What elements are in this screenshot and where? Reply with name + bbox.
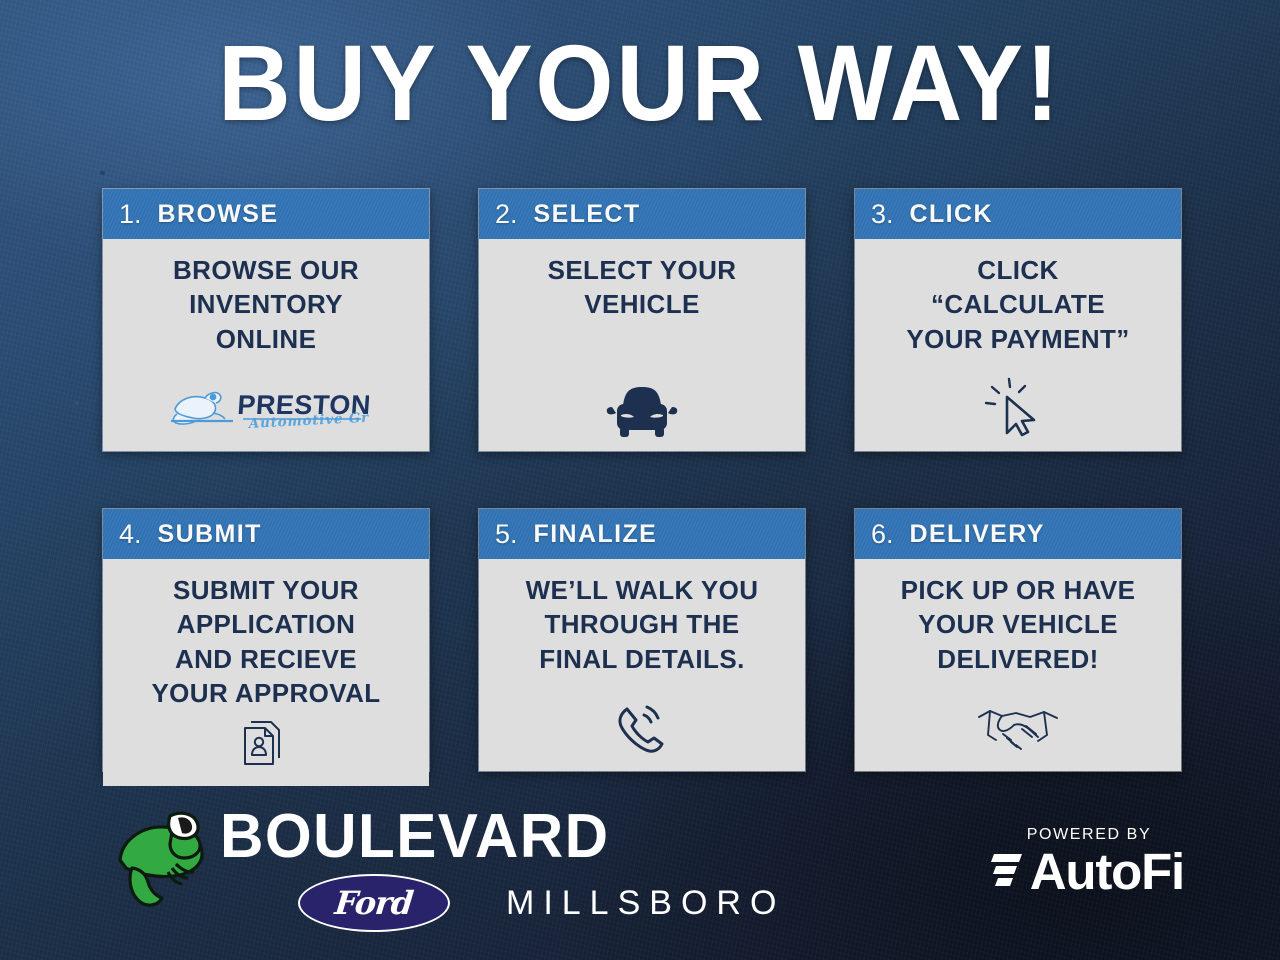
boulevard-ford-logo[interactable]: BOULEVARD Ford MILLSBORO (112, 806, 785, 932)
step-body: BROWSE OUR INVENTORY ONLINE PRESTON (103, 239, 429, 451)
step-body: SUBMIT YOUR APPLICATION AND RECIEVE YOUR… (103, 559, 429, 786)
step-number: 6. (871, 519, 894, 550)
autofi-logo[interactable]: POWERED BY AutoFi (991, 826, 1184, 897)
preston-automotive-group-logo: PRESTON Automotive Group (163, 375, 369, 441)
step-body: PICK UP OR HAVE YOUR VEHICLE DELIVERED! (855, 559, 1181, 771)
car-front-icon (601, 375, 683, 441)
step-body: SELECT YOUR VEHICLE (479, 239, 805, 451)
step-header: 6. DELIVERY (855, 509, 1181, 559)
autofi-bars-icon (991, 847, 1025, 896)
step-description: PICK UP OR HAVE YOUR VEHICLE DELIVERED! (901, 573, 1136, 676)
step-header: 1. BROWSE (103, 189, 429, 239)
step-title: SUBMIT (158, 520, 262, 549)
handshake-icon (974, 695, 1062, 761)
step-description: WE’LL WALK YOU THROUGH THE FINAL DETAILS… (526, 573, 759, 676)
step-header: 2. SELECT (479, 189, 805, 239)
ringing-phone-icon (611, 695, 673, 761)
step-card-select[interactable]: 2. SELECT SELECT YOUR VEHICLE (478, 188, 806, 452)
step-number: 5. (495, 519, 518, 550)
step-number: 2. (495, 199, 518, 230)
step-card-submit[interactable]: 4. SUBMIT SUBMIT YOUR APPLICATION AND RE… (102, 508, 430, 772)
step-card-browse[interactable]: 1. BROWSE BROWSE OUR INVENTORY ONLINE (102, 188, 430, 452)
step-header: 5. FINALIZE (479, 509, 805, 559)
step-title: CLICK (910, 200, 993, 229)
step-description: SUBMIT YOUR APPLICATION AND RECIEVE YOUR… (151, 573, 380, 710)
mouse-cursor-click-icon (983, 375, 1053, 441)
step-card-click[interactable]: 3. CLICK CLICK “CALCULATE YOUR PAYMENT” (854, 188, 1182, 452)
step-title: SELECT (534, 200, 641, 229)
footer: BOULEVARD Ford MILLSBORO POWERED BY (0, 800, 1280, 960)
step-number: 4. (119, 519, 142, 550)
step-body: CLICK “CALCULATE YOUR PAYMENT” (855, 239, 1181, 451)
step-body: WE’LL WALK YOU THROUGH THE FINAL DETAILS… (479, 559, 805, 771)
ford-wordmark: Ford (333, 884, 415, 922)
step-number: 1. (119, 199, 142, 230)
dealer-location: MILLSBORO (506, 884, 785, 923)
step-header: 4. SUBMIT (103, 509, 429, 559)
powered-by-label: POWERED BY (1027, 826, 1184, 844)
steps-grid: 1. BROWSE BROWSE OUR INVENTORY ONLINE (102, 188, 1182, 772)
step-title: FINALIZE (534, 520, 658, 549)
step-card-finalize[interactable]: 5. FINALIZE WE’LL WALK YOU THROUGH THE F… (478, 508, 806, 772)
green-frog-logo (112, 806, 214, 921)
ford-oval-logo: Ford (298, 874, 450, 932)
step-card-delivery[interactable]: 6. DELIVERY PICK UP OR HAVE YOUR VEHICLE… (854, 508, 1182, 772)
step-description: SELECT YOUR VEHICLE (548, 253, 737, 322)
dealer-name: BOULEVARD (220, 806, 768, 868)
step-description: CLICK “CALCULATE YOUR PAYMENT” (906, 253, 1129, 356)
autofi-wordmark: AutoFi (1030, 846, 1184, 897)
step-title: DELIVERY (910, 520, 1045, 549)
step-description: BROWSE OUR INVENTORY ONLINE (173, 253, 359, 356)
application-document-person-icon (237, 710, 295, 776)
page-title: BUY YOUR WAY! (45, 26, 1235, 139)
step-number: 3. (871, 199, 894, 230)
step-title: BROWSE (158, 200, 279, 229)
step-header: 3. CLICK (855, 189, 1181, 239)
